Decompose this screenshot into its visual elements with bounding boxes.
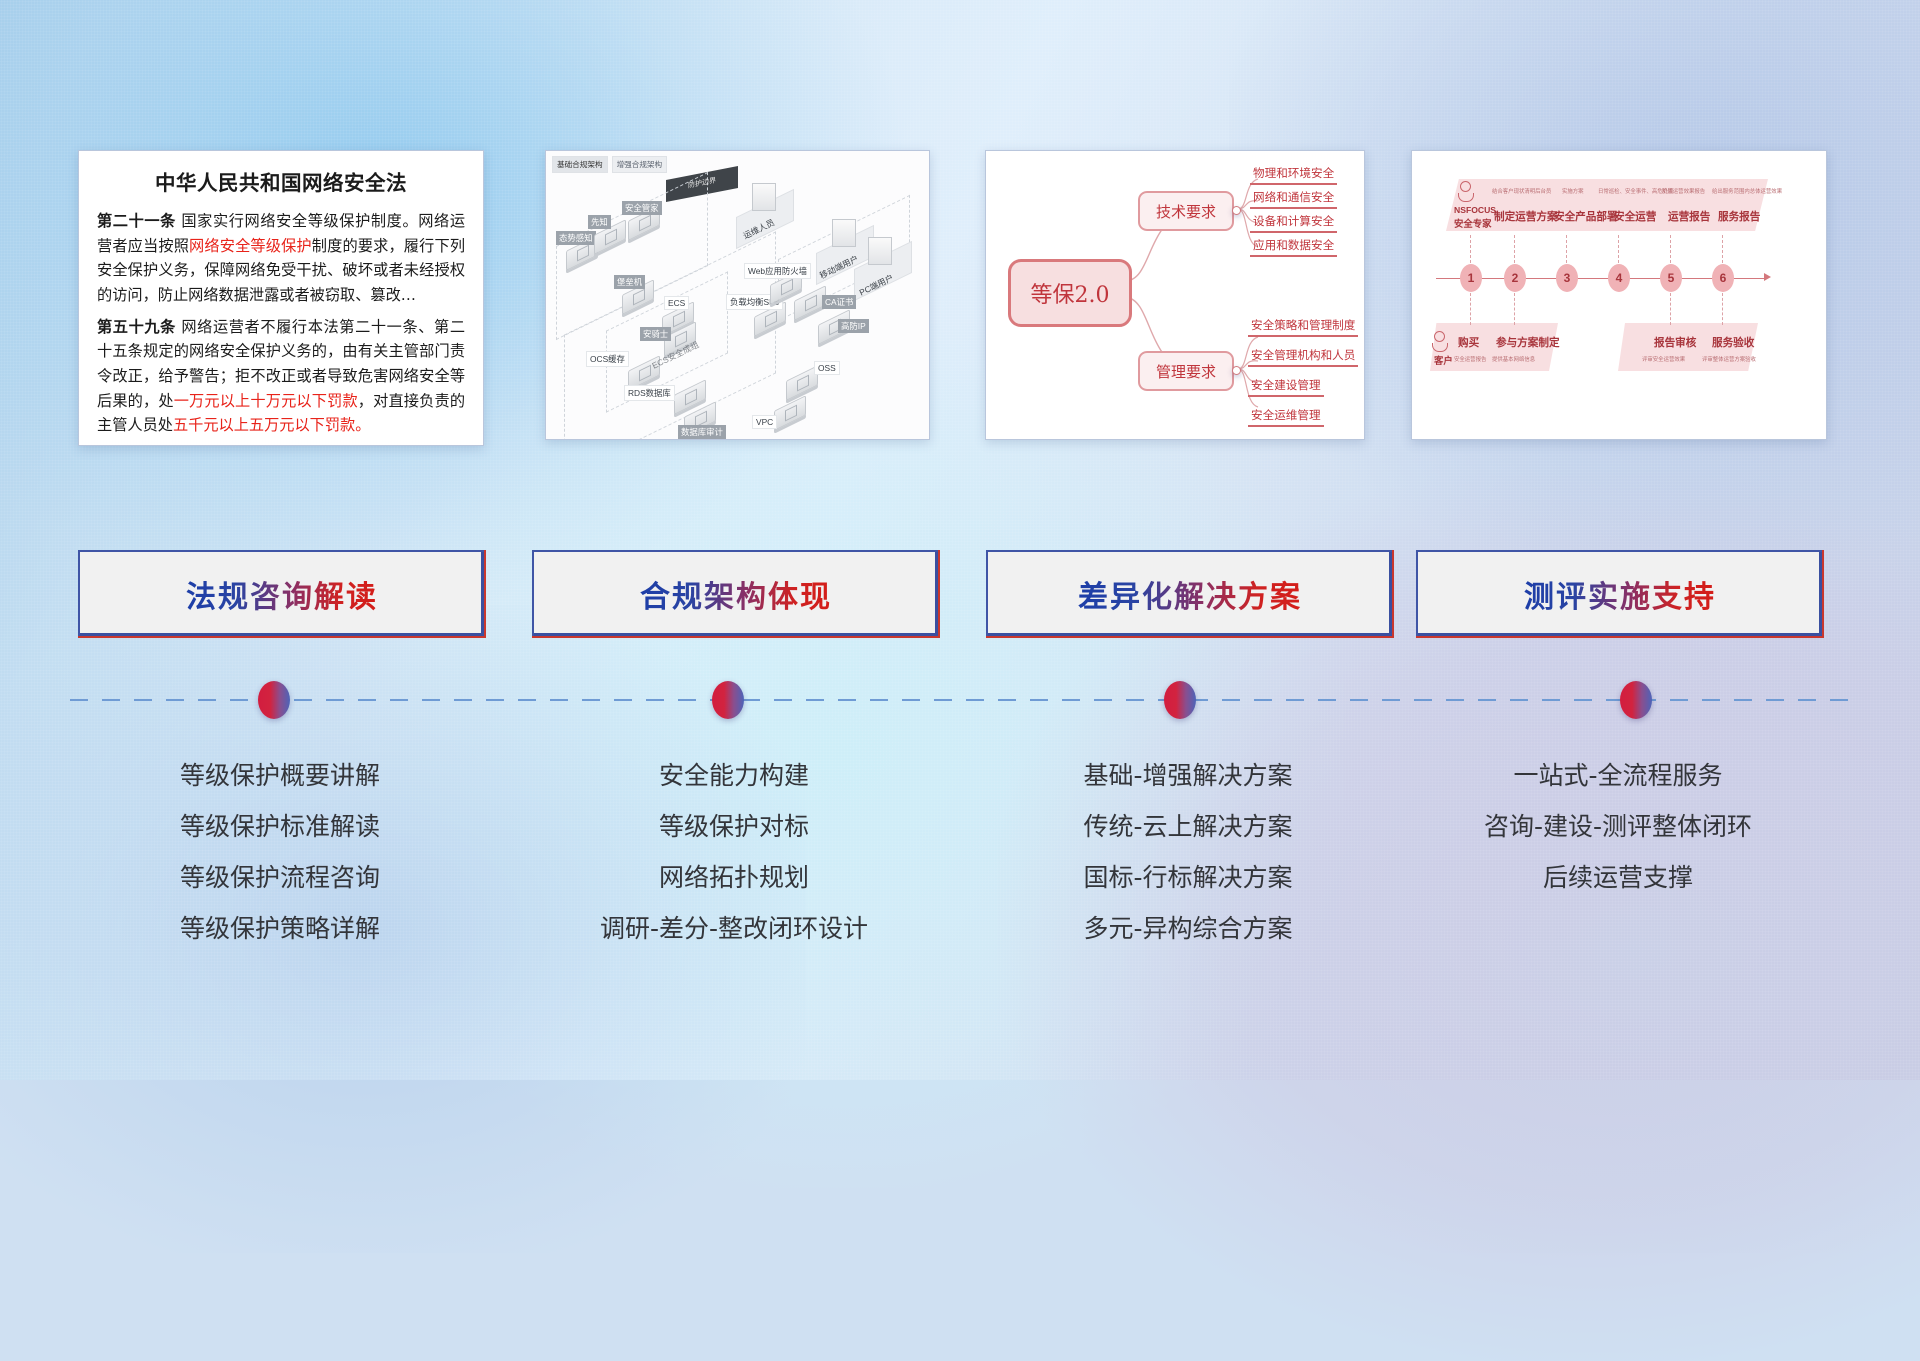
bottom-step-title-2: 参与方案制定: [1496, 335, 1560, 350]
mindmap-leaf-ops-mgmt: 安全运维管理: [1248, 407, 1324, 427]
list-item: 等级保护策略详解: [78, 903, 482, 954]
card-cybersecurity-law: 中华人民共和国网络安全法 第二十一条 国家实行网络安全等级保护制度。网络运营者应…: [78, 150, 484, 446]
law-highlight-text: 五千元以上五万元以下罚款。: [173, 416, 370, 434]
top-step-sub-2: 实施方案: [1562, 187, 1584, 195]
expert-avatar-icon: [1460, 181, 1474, 202]
tab-basic-architecture[interactable]: 基础合规架构: [552, 156, 608, 173]
timeline-step-6[interactable]: 6: [1712, 264, 1734, 292]
mindmap-collapse-dot-management[interactable]: [1232, 366, 1241, 375]
law-highlight-text: 网络安全等级保护: [189, 237, 312, 255]
bottom-step-sub-4: 评审整体运营方案验收: [1702, 355, 1756, 363]
mindmap-leaf-device-compute: 设备和计算安全: [1250, 213, 1337, 233]
card-cloud-architecture: 基础合规架构 增强合规架构 防护边界 态势感知: [545, 150, 930, 440]
list-compliance-architecture: 安全能力构建 等级保护对标 网络拓扑规划 调研-差分-整改闭环设计: [532, 750, 936, 954]
rail-dot-3: [1164, 681, 1196, 719]
top-step-sub-1: 结合客户现状清明后台员: [1492, 187, 1551, 195]
node-xianzhi: 先知: [594, 227, 626, 247]
customer-avatar-icon: [1434, 331, 1448, 352]
mindmap: 等保2.0 技术要求 物理和环境安全 网络和通信安全 设备和计算安全 应用和数据…: [986, 151, 1364, 439]
timeline-dashed-rail: [70, 699, 1850, 701]
server-ops: [752, 183, 776, 211]
timeline-tick-2-top: [1514, 235, 1515, 263]
top-step-sub-5: 给出服务范围内总体运营效果: [1712, 187, 1782, 195]
top-step-title-3: 安全运营: [1614, 209, 1656, 224]
node-label: Web应用防火墙: [744, 263, 811, 279]
law-highlight-text: 一万元以上十万元以下罚款: [174, 392, 358, 410]
mindmap-leaf-network-comm: 网络和通信安全: [1250, 189, 1337, 209]
list-differentiated-solution: 基础-增强解决方案 传统-云上解决方案 国标-行标解决方案 多元-异构综合方案: [986, 750, 1390, 954]
law-text-body: 中华人民共和国网络安全法 第二十一条 国家实行网络安全等级保护制度。网络运营者应…: [79, 151, 483, 445]
banner-title: 测评实施支持: [1524, 572, 1716, 616]
top-step-title-2: 安全产品部署: [1554, 209, 1618, 224]
avatar-head: [1434, 331, 1445, 342]
bottom-step-title-1: 购买: [1458, 335, 1479, 350]
banner-title: 合规架构体现: [640, 572, 832, 616]
illustration-card-row: 中华人民共和国网络安全法 第二十一条 国家实行网络安全等级保护制度。网络运营者应…: [0, 150, 1920, 446]
node-oss: OSS: [786, 373, 818, 393]
law-article-21: 第二十一条 国家实行网络安全等级保护制度。网络运营者应当按照网络安全等级保护制度…: [97, 209, 465, 308]
banner-regulation-consulting[interactable]: 法规咨询解读: [78, 550, 486, 638]
card-dengbao-mindmap: 等保2.0 技术要求 物理和环境安全 网络和通信安全 设备和计算安全 应用和数据…: [985, 150, 1365, 440]
law-title: 中华人民共和国网络安全法: [97, 167, 465, 200]
avatar-head: [1460, 181, 1471, 192]
node-label: CA证书: [822, 295, 856, 309]
node-rds-database: RDS数据库: [674, 387, 706, 407]
customer-role-label: 客户: [1434, 353, 1453, 367]
list-item: 等级保护流程咨询: [78, 852, 482, 903]
rail-dot-1: [258, 681, 290, 719]
list-item: 网络拓扑规划: [532, 852, 936, 903]
timeline-step-2[interactable]: 2: [1504, 264, 1526, 292]
bottom-step-title-4: 服务验收: [1712, 335, 1754, 350]
expert-role-label: 安全专家: [1454, 216, 1492, 230]
banner-title: 差异化解决方案: [1078, 572, 1302, 616]
top-step-title-1: 制定运营方案: [1494, 209, 1558, 224]
node-label: 堡垒机: [614, 275, 645, 289]
list-item: 等级保护概要讲解: [78, 750, 482, 801]
timeline-tick-5-bottom: [1670, 293, 1671, 325]
list-item: 咨询-建设-测评整体闭环: [1416, 801, 1820, 852]
list-item: 多元-异构综合方案: [986, 903, 1390, 954]
tab-enhanced-architecture[interactable]: 增强合规架构: [612, 156, 668, 173]
list-item: 国标-行标解决方案: [986, 852, 1390, 903]
server-mobile: [832, 219, 856, 247]
list-evaluation-support: 一站式-全流程服务 咨询-建设-测评整体闭环 后续运营支撑: [1416, 750, 1820, 903]
nsfocus-timeline: NSFOCUS 安全专家 结合客户现状清明后台员 制定运营方案 实施方案 安全产…: [1412, 151, 1826, 439]
timeline-tick-4-top: [1618, 235, 1619, 263]
mindmap-group-management: 管理要求: [1138, 351, 1234, 391]
node-label: 数据库审计: [678, 425, 726, 439]
law-article-21-label: 第二十一条: [97, 212, 176, 230]
rail-dot-2: [712, 681, 744, 719]
node-vpc: VPC: [774, 403, 806, 423]
node-database-audit: 数据库审计: [684, 409, 716, 429]
node-ca-certificate: CA证书: [794, 293, 826, 313]
mindmap-group-technical: 技术要求: [1138, 191, 1234, 231]
list-item: 等级保护对标: [532, 801, 936, 852]
law-article-59: 第五十九条 网络运营者不履行本法第二十一条、第二十五条规定的网络安全保护义务的，…: [97, 315, 465, 438]
node-label: 态势感知: [556, 231, 596, 245]
list-item: 一站式-全流程服务: [1416, 750, 1820, 801]
node-label: RDS数据库: [624, 385, 675, 401]
list-item: 基础-增强解决方案: [986, 750, 1390, 801]
slide-stage: 中华人民共和国网络安全法 第二十一条 国家实行网络安全等级保护制度。网络运营者应…: [0, 0, 1920, 1080]
timeline-tick-6-bottom: [1722, 293, 1723, 325]
mindmap-leaf-org-personnel: 安全管理机构和人员: [1248, 347, 1358, 367]
node-label: 高防IP: [838, 319, 869, 333]
node-label: ECS: [664, 296, 689, 310]
timeline-tick-1-top: [1470, 235, 1471, 263]
top-step-title-5: 服务报告: [1718, 209, 1760, 224]
list-item: 等级保护标准解读: [78, 801, 482, 852]
law-article-59-label: 第五十九条: [97, 318, 176, 336]
list-item: 传统-云上解决方案: [986, 801, 1390, 852]
node-label: OCS缓存: [586, 351, 629, 367]
node-security-butler: 安全管家: [628, 213, 660, 233]
bottom-step-title-3: 报告审核: [1654, 335, 1696, 350]
bottom-step-sub-2: 提供基本网络信息: [1492, 355, 1535, 363]
timeline-step-4[interactable]: 4: [1608, 264, 1630, 292]
top-step-sub-4: 阶段运营效果报告: [1662, 187, 1705, 195]
node-label: 先知: [588, 215, 611, 229]
timeline-step-5[interactable]: 5: [1660, 264, 1682, 292]
timeline-tick-1-bottom: [1470, 293, 1471, 325]
mindmap-collapse-dot-technical[interactable]: [1232, 206, 1241, 215]
top-step-title-4: 运营报告: [1668, 209, 1710, 224]
node-slb: 负载均衡SLB: [754, 309, 786, 329]
card-nsfocus-timeline: NSFOCUS 安全专家 结合客户现状清明后台员 制定运营方案 实施方案 安全产…: [1411, 150, 1827, 440]
banner-compliance-architecture[interactable]: 合规架构体现: [532, 550, 940, 638]
node-anti-ddos: 高防IP: [818, 317, 850, 337]
timeline-step-1[interactable]: 1: [1460, 264, 1482, 292]
list-regulation-consulting: 等级保护概要讲解 等级保护标准解读 等级保护流程咨询 等级保护策略详解: [78, 750, 482, 954]
list-item: 后续运营支撑: [1416, 852, 1820, 903]
rail-dot-4: [1620, 681, 1652, 719]
timeline-tick-3-top: [1566, 235, 1567, 263]
banner-evaluation-support[interactable]: 测评实施支持: [1416, 550, 1824, 638]
timeline-tick-5-top: [1670, 235, 1671, 263]
architecture-diagram: 基础合规架构 增强合规架构 防护边界 态势感知: [546, 151, 929, 439]
bottom-step-sub-3: 评审安全运营效果: [1642, 355, 1685, 363]
list-item: 安全能力构建: [532, 750, 936, 801]
expert-role-brand: NSFOCUS: [1454, 205, 1496, 215]
node-label: VPC: [752, 415, 777, 429]
mindmap-leaf-physical-env: 物理和环境安全: [1250, 165, 1337, 185]
avatar-body: [1432, 343, 1448, 352]
mindmap-leaf-construction-mgmt: 安全建设管理: [1248, 377, 1324, 397]
timeline-tick-2-bottom: [1514, 293, 1515, 325]
timeline-axis-arrow-icon: [1764, 273, 1771, 281]
banner-differentiated-solution[interactable]: 差异化解决方案: [986, 550, 1394, 638]
mindmap-leaf-app-data: 应用和数据安全: [1250, 237, 1337, 257]
mindmap-root-node: 等保2.0: [1008, 259, 1132, 327]
mindmap-leaf-policy-system: 安全策略和管理制度: [1248, 317, 1358, 337]
timeline-step-3[interactable]: 3: [1556, 264, 1578, 292]
node-bastion-host: 堡垒机: [622, 287, 654, 307]
architecture-tabs: 基础合规架构 增强合规架构: [552, 156, 667, 173]
server-pc: [868, 237, 892, 265]
puck-icon: [774, 395, 806, 431]
list-item: 调研-差分-整改闭环设计: [532, 903, 936, 954]
node-label: 安骑士: [640, 327, 671, 341]
timeline-tick-6-top: [1722, 235, 1723, 263]
node-label: 安全管家: [622, 201, 662, 215]
bottom-step-sub-1: 安全运营报告: [1454, 355, 1486, 363]
node-label: OSS: [814, 361, 840, 375]
avatar-body: [1458, 193, 1474, 202]
banner-title: 法规咨询解读: [186, 572, 378, 616]
